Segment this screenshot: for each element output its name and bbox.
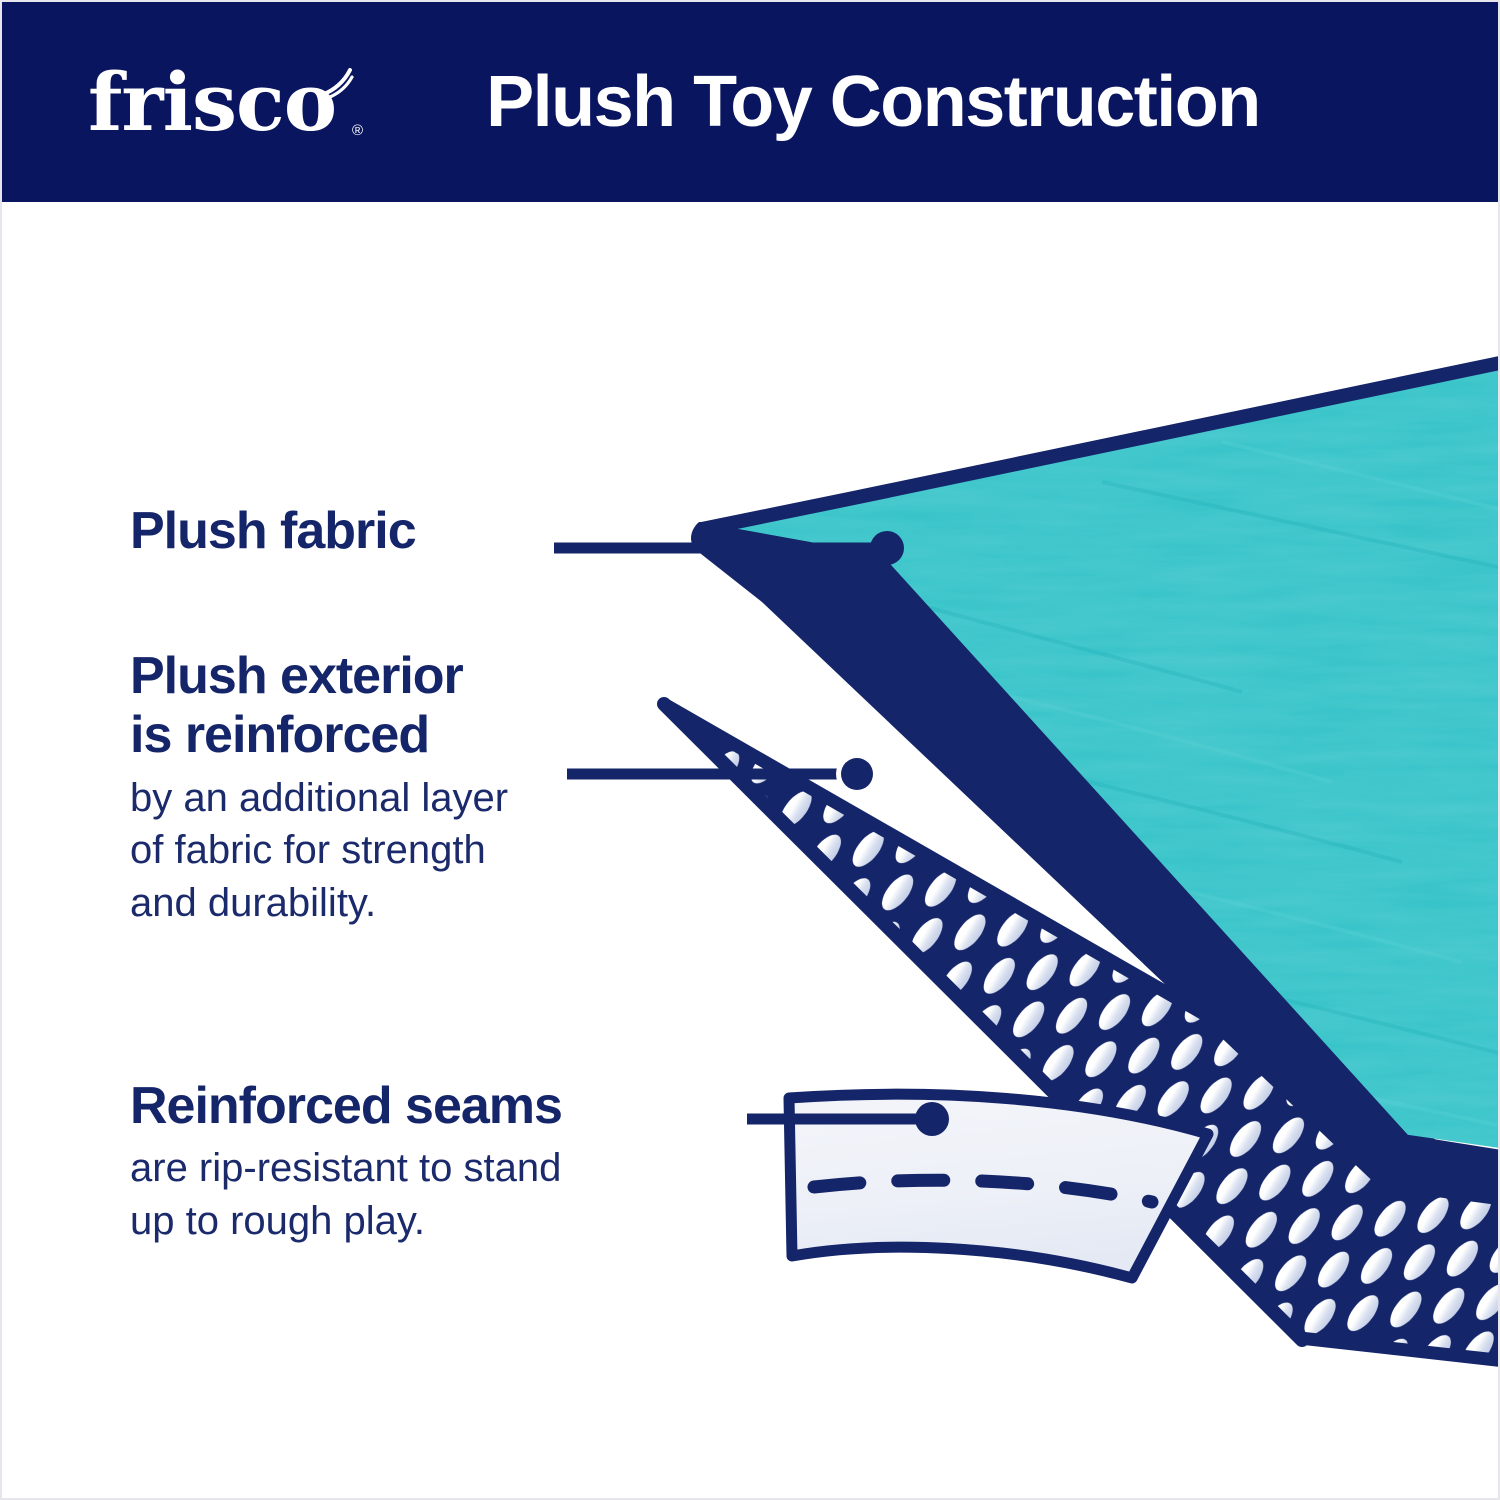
dashed-stitch-line (814, 1180, 1152, 1202)
callout-body-reinforced-seams: are rip-resistant to stand up to rough p… (130, 1142, 562, 1248)
callout-heading-plush-fabric: Plush fabric (130, 502, 416, 561)
page-title: Plush Toy Construction (486, 66, 1260, 138)
plush-top-edge (702, 360, 1500, 529)
callout-dot-plush-fabric (870, 531, 904, 565)
callout-label-plush-fabric: Plush fabric (130, 502, 416, 561)
plush-folded-hem (699, 522, 1500, 1207)
callout-dot-plush-exterior (841, 758, 873, 790)
registered-trademark-icon: ® (352, 123, 362, 138)
frisco-logo-wordmark: frisco (88, 55, 336, 149)
infographic-page: frisco ® Plush Toy Construction (0, 0, 1500, 1500)
callout-dot-reinforced-seams (915, 1102, 949, 1136)
callout-body-plush-exterior: by an additional layer of fabric for str… (130, 772, 508, 930)
mesh-reinforcement-layer (602, 652, 1500, 1412)
callout-label-reinforced-seams: Reinforced seams are rip-resistant to st… (130, 1077, 562, 1248)
callout-heading-plush-exterior: Plush exterior is reinforced (130, 647, 508, 766)
header-banner: frisco ® Plush Toy Construction (2, 2, 1500, 202)
callout-heading-reinforced-seams: Reinforced seams (130, 1077, 562, 1136)
seam-flap (789, 1094, 1208, 1278)
frisco-logo: frisco ® (88, 62, 348, 142)
callout-label-plush-exterior: Plush exterior is reinforced by an addit… (130, 647, 508, 930)
teal-plush-surface (691, 360, 1500, 1207)
callout-leaders (554, 531, 949, 1136)
